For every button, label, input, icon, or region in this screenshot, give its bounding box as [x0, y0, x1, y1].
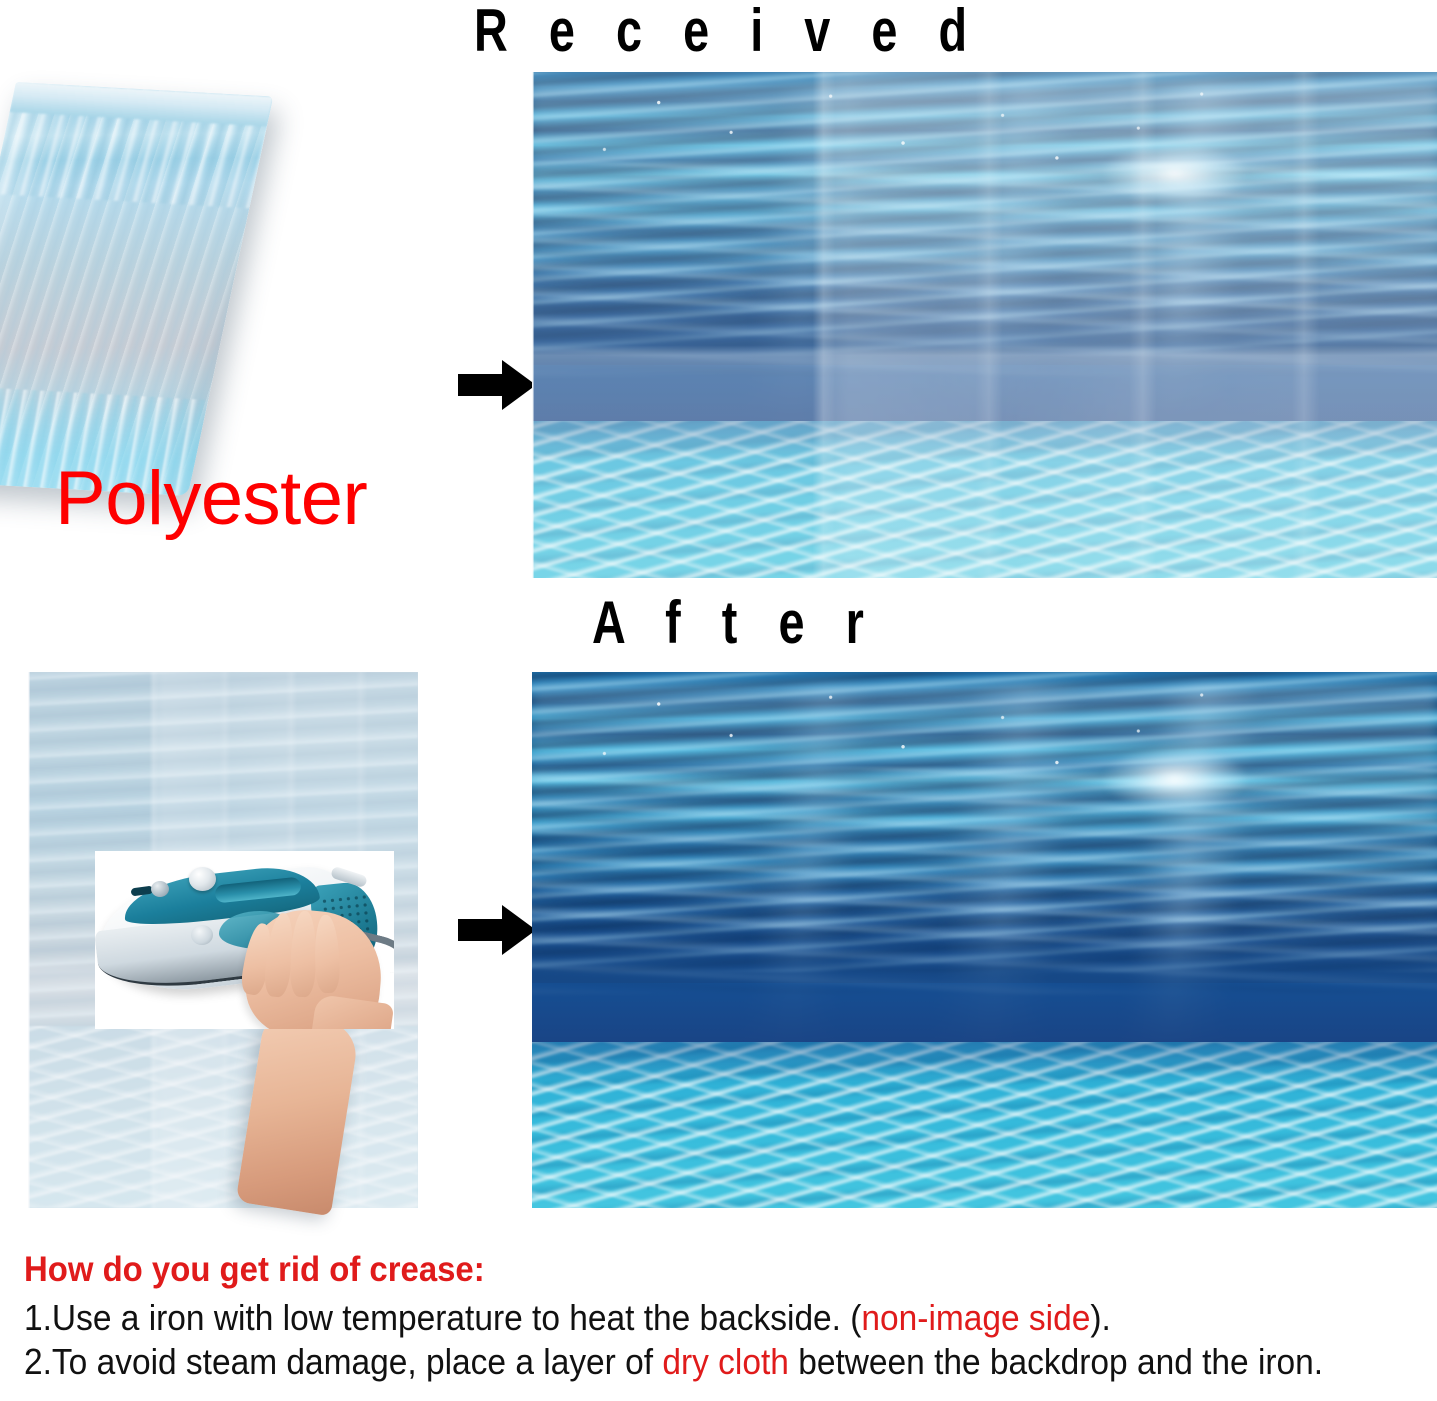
- instruction-2-number: 2.: [24, 1341, 52, 1382]
- page-title-after: A f t e r: [592, 588, 878, 657]
- hand-wrist: [310, 994, 394, 1029]
- seafloor-shade: [532, 421, 1437, 578]
- fabric-swatch-polyester: [0, 82, 273, 496]
- seafloor-layer: [532, 421, 1437, 578]
- iron-steam-button: [151, 881, 169, 897]
- iron-temp-dial: [191, 925, 213, 945]
- instruction-1-text-a: Use a iron with low temperature to heat …: [52, 1297, 862, 1338]
- instructions-block: How do you get rid of crease: 1.Use a ir…: [24, 1250, 1424, 1384]
- seafloor-shade: [532, 1042, 1437, 1208]
- received-backdrop-image: [532, 72, 1437, 578]
- instruction-line-1: 1.Use a iron with low temperature to hea…: [24, 1296, 1326, 1340]
- right-arrow-icon: [458, 903, 536, 957]
- instruction-1-number: 1.: [24, 1297, 52, 1338]
- seafloor-layer: [532, 1042, 1437, 1208]
- bubbles-layer: [532, 677, 1437, 902]
- instruction-1-highlight: non-image side: [861, 1297, 1090, 1338]
- iron-knob: [189, 867, 216, 891]
- instruction-2-text-b: between the backdrop and the iron.: [789, 1341, 1323, 1382]
- steam-iron-photo: [95, 851, 394, 1029]
- instruction-2-highlight: dry cloth: [662, 1341, 789, 1382]
- right-arrow-icon: [458, 358, 536, 412]
- instruction-line-2: 2.To avoid steam damage, place a layer o…: [24, 1340, 1326, 1384]
- material-label-polyester: Polyester: [55, 455, 367, 542]
- bubbles-layer: [532, 77, 1437, 290]
- instruction-2-text-a: To avoid steam damage, place a layer of: [52, 1341, 662, 1382]
- after-backdrop-image: [532, 672, 1437, 1208]
- instruction-1-text-b: ).: [1090, 1297, 1110, 1338]
- instructions-heading: How do you get rid of crease:: [24, 1250, 1340, 1290]
- fabric-top-fold: [10, 82, 274, 126]
- page-title-received: R e c e i v e d: [474, 0, 981, 65]
